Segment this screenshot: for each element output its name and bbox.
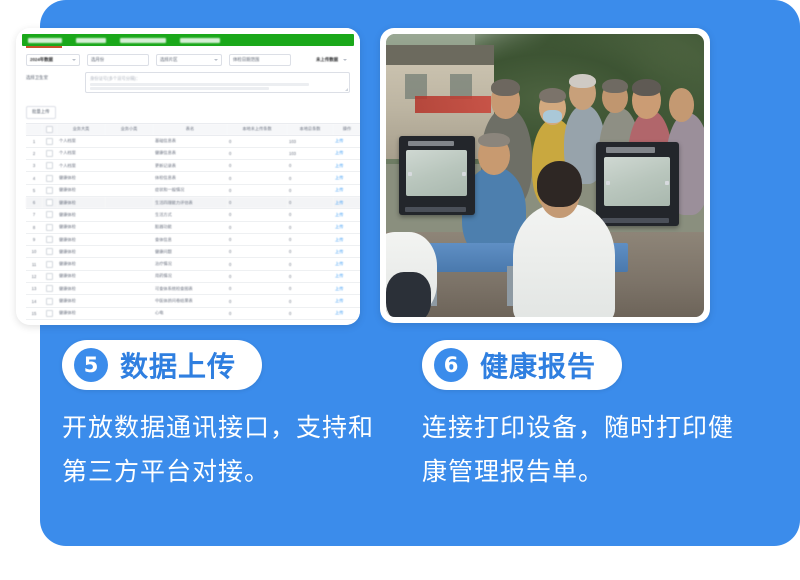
cell-index: 12 — [26, 270, 42, 282]
upload-link[interactable]: 上传 — [335, 187, 343, 192]
cell-total-count: 0 — [287, 295, 333, 307]
cell-operation[interactable]: 上传 — [333, 258, 360, 270]
photo-panel — [380, 28, 710, 323]
kiosk-right-label-bar — [606, 147, 656, 153]
filter-status-select[interactable]: 未上传数据 — [298, 54, 350, 66]
cell-total-count: 0 — [287, 258, 333, 270]
cell-category: 个人档案 — [57, 160, 105, 172]
cell-pending-count: 0 — [227, 270, 287, 282]
th-subcategory: 业务小类 — [105, 123, 153, 135]
kiosk-left-label-bar — [408, 141, 454, 147]
cell-table-name: 更新记录表 — [153, 160, 227, 172]
upload-link[interactable]: 上传 — [335, 150, 343, 155]
textarea-ghost-line-2 — [90, 87, 269, 90]
upload-link[interactable]: 上传 — [335, 175, 343, 180]
cell-pending-count: 0 — [227, 307, 287, 319]
kiosk-left-footer — [405, 207, 466, 212]
cell-subcategory — [105, 221, 153, 233]
photo-hair-5 — [632, 79, 661, 96]
feature-number-badge-6: 6 — [434, 348, 468, 382]
cell-table-name: 生活方式 — [153, 209, 227, 221]
upload-data-table: 业务大类 业务小类 表名 本地未上传条数 本地总条数 操作 通讯状态 1个人档案… — [26, 123, 360, 320]
textarea-ghost-line-1 — [90, 83, 309, 86]
cell-row-checkbox[interactable] — [42, 184, 57, 196]
checkbox-icon[interactable] — [46, 187, 53, 194]
cell-row-checkbox[interactable] — [42, 258, 57, 270]
table-row[interactable]: 3个人档案更新记录表00上传 — [26, 160, 360, 172]
cell-table-name: 健康信息表 — [153, 147, 227, 159]
checkbox-icon[interactable] — [46, 138, 53, 145]
upload-link[interactable]: 上传 — [335, 273, 343, 278]
cell-subcategory — [105, 147, 153, 159]
cell-pending-count: 0 — [227, 295, 287, 307]
chevron-down-icon — [214, 59, 218, 61]
cell-row-checkbox[interactable] — [42, 270, 57, 282]
feature-heading-6: 6 健康报告 — [422, 340, 622, 390]
th-pending-count: 本地未上传条数 — [227, 123, 287, 135]
cell-subcategory — [105, 283, 153, 295]
cell-table-name: 心电 — [153, 307, 227, 319]
cell-subcategory — [105, 307, 153, 319]
cell-category: 健康体检 — [57, 246, 105, 258]
filter-toolbar: 2024年数据 选月份 选择片区 体检日期范围 — [26, 54, 350, 66]
nav-item-3[interactable] — [120, 38, 166, 43]
poster-page: 2024年数据 选月份 选择片区 体检日期范围 — [0, 0, 800, 580]
cell-category: 健康体检 — [57, 295, 105, 307]
cell-subcategory — [105, 135, 153, 147]
app-top-navigation[interactable] — [22, 34, 354, 46]
cell-category: 健康体检 — [57, 209, 105, 221]
table-row[interactable]: 5健康体检症状和一般情况00上传 — [26, 184, 360, 196]
cell-category: 个人档案 — [57, 147, 105, 159]
photo-hair-4 — [602, 79, 627, 93]
photo-building-roof — [386, 45, 494, 65]
cell-index: 13 — [26, 283, 42, 295]
table-row[interactable]: 9健康体检查体信息00上传 — [26, 233, 360, 245]
filter-year-value: 2024年数据 — [30, 57, 53, 63]
nav-item-4[interactable] — [180, 38, 220, 43]
cell-total-count: 0 — [287, 246, 333, 258]
photo-patient-hair — [478, 133, 510, 147]
cell-operation[interactable]: 上传 — [333, 135, 360, 147]
kiosk-left-knob-1 — [408, 172, 412, 176]
app-content: 2024年数据 选月份 选择片区 体检日期范围 — [16, 46, 360, 320]
health-kiosk-right — [596, 142, 679, 227]
cell-row-checkbox[interactable] — [42, 135, 57, 147]
checkbox-icon[interactable] — [46, 126, 53, 133]
upload-link[interactable]: 上传 — [335, 310, 343, 315]
cell-subcategory — [105, 246, 153, 258]
upload-link[interactable]: 上传 — [335, 298, 343, 303]
cell-total-count: 0 — [287, 172, 333, 184]
cell-row-checkbox[interactable] — [42, 233, 57, 245]
cell-pending-count: 0 — [227, 184, 287, 196]
feature-title-5: 数据上传 — [120, 345, 236, 385]
cell-category: 个人档案 — [57, 135, 105, 147]
cell-total-count: 0 — [287, 184, 333, 196]
table-header: 业务大类 业务小类 表名 本地未上传条数 本地总条数 操作 通讯状态 — [26, 123, 360, 135]
cell-category: 健康体检 — [57, 283, 105, 295]
cell-row-checkbox[interactable] — [42, 147, 57, 159]
upload-link[interactable]: 上传 — [335, 212, 343, 217]
checkbox-icon[interactable] — [46, 175, 53, 182]
cell-operation[interactable]: 上传 — [333, 283, 360, 295]
upload-link[interactable]: 上传 — [335, 286, 343, 291]
cell-index: 11 — [26, 258, 42, 270]
feature-heading-5: 5 数据上传 — [62, 340, 262, 390]
table-row[interactable]: 8健康体检脏器功能00上传 — [26, 221, 360, 233]
app-window: 2024年数据 选月份 选择片区 体检日期范围 — [16, 28, 360, 325]
cell-table-name: 健康问题 — [153, 246, 227, 258]
cell-total-count: 103 — [287, 135, 333, 147]
table-row[interactable]: 2个人档案健康信息表0103上传 — [26, 147, 360, 159]
cell-operation[interactable]: 上传 — [333, 172, 360, 184]
cell-pending-count: 0 — [227, 160, 287, 172]
checkbox-icon[interactable] — [46, 236, 53, 243]
cell-total-count: 0 — [287, 196, 333, 208]
kiosk-right-knob-2 — [665, 181, 669, 185]
table-row[interactable]: 4健康体检体检信息表00上传 — [26, 172, 360, 184]
photo-window-2 — [450, 74, 472, 99]
cell-table-name: 可查体系统检查图表 — [153, 283, 227, 295]
cell-pending-count: 0 — [227, 258, 287, 270]
cell-index: 2 — [26, 147, 42, 159]
cell-table-name: 生活四理能力评估表 — [153, 196, 227, 208]
checkbox-icon[interactable] — [46, 150, 53, 157]
cell-total-count: 0 — [287, 209, 333, 221]
cell-operation[interactable]: 上传 — [333, 209, 360, 221]
filter-month-input[interactable]: 选月份 — [87, 54, 149, 66]
checkbox-icon[interactable] — [46, 285, 53, 292]
checkbox-icon[interactable] — [46, 248, 53, 255]
nav-item-1[interactable] — [28, 38, 62, 43]
health-kiosk-left — [399, 136, 475, 215]
cell-operation[interactable]: 上传 — [333, 307, 360, 319]
cell-index: 6 — [26, 196, 42, 208]
table-row[interactable]: 1个人档案基础信息表0103上传 — [26, 135, 360, 147]
cell-table-name: 治疗情况 — [153, 258, 227, 270]
checkbox-icon[interactable] — [46, 273, 53, 280]
feature-number-badge-5: 5 — [74, 348, 108, 382]
upload-link[interactable]: 上传 — [335, 163, 343, 168]
cell-pending-count: 0 — [227, 147, 287, 159]
id-number-placeholder: 身份证号(多个逗号分隔)： — [90, 76, 345, 82]
cell-pending-count: 0 — [227, 283, 287, 295]
nav-item-2[interactable] — [76, 38, 106, 43]
chevron-down-icon — [343, 59, 347, 61]
cell-category: 健康体检 — [57, 172, 105, 184]
nav-active-indicator — [26, 46, 62, 48]
cell-index: 9 — [26, 233, 42, 245]
photo-window-1 — [405, 74, 427, 99]
table-row[interactable]: 15健康体检心电00上传 — [26, 307, 360, 319]
cell-pending-count: 0 — [227, 196, 287, 208]
cell-table-name: 用药情况 — [153, 270, 227, 282]
filter-date-range-value: 体检日期范围 — [233, 57, 259, 63]
checkbox-icon[interactable] — [46, 199, 53, 206]
table-header-row: 业务大类 业务小类 表名 本地未上传条数 本地总条数 操作 通讯状态 — [26, 123, 360, 135]
checkbox-icon[interactable] — [46, 211, 53, 218]
photo-hair-3 — [569, 74, 596, 88]
cell-pending-count: 0 — [227, 246, 287, 258]
photo-staff-hair — [537, 161, 582, 206]
table-row[interactable]: 13健康体检可查体系统检查图表00上传 — [26, 283, 360, 295]
cell-subcategory — [105, 270, 153, 282]
cell-index: 14 — [26, 295, 42, 307]
filter-district-value: 选择片区 — [160, 57, 178, 63]
kiosk-left-knob-2 — [462, 172, 466, 176]
feature-title-6: 健康报告 — [480, 345, 596, 385]
table-row[interactable]: 14健康体检中医体质问卷结果表00上传 — [26, 295, 360, 307]
cell-category: 健康体检 — [57, 233, 105, 245]
cell-row-checkbox[interactable] — [42, 160, 57, 172]
cell-category: 健康体检 — [57, 270, 105, 282]
cell-category: 健康体检 — [57, 258, 105, 270]
cell-index: 3 — [26, 160, 42, 172]
cell-pending-count: 0 — [227, 172, 287, 184]
checkbox-icon[interactable] — [46, 298, 53, 305]
filter-status-value: 未上传数据 — [316, 57, 338, 63]
cell-category: 健康体检 — [57, 184, 105, 196]
cell-category: 健康体检 — [57, 307, 105, 319]
cell-subcategory — [105, 196, 153, 208]
upload-link[interactable]: 上传 — [335, 224, 343, 229]
checkbox-icon[interactable] — [46, 162, 53, 169]
filter-date-range-input[interactable]: 体检日期范围 — [229, 54, 291, 66]
upload-link[interactable]: 上传 — [335, 200, 343, 205]
cell-table-name: 脏器功能 — [153, 221, 227, 233]
checkbox-icon[interactable] — [46, 224, 53, 231]
photo-hair-2 — [539, 88, 566, 104]
cell-total-count: 0 — [287, 221, 333, 233]
kiosk-left-screen — [406, 150, 467, 196]
cell-total-count: 0 — [287, 270, 333, 282]
cell-operation[interactable]: 上传 — [333, 196, 360, 208]
cell-table-name: 查体信息 — [153, 233, 227, 245]
cell-table-name: 基础信息表 — [153, 135, 227, 147]
id-number-textarea[interactable]: 身份证号(多个逗号分隔)： — [85, 72, 350, 93]
cell-total-count: 103 — [287, 147, 333, 159]
cell-subcategory — [105, 160, 153, 172]
table-row[interactable]: 11健康体检治疗情况00上传 — [26, 258, 360, 270]
cell-table-name: 体检信息表 — [153, 172, 227, 184]
resize-handle-icon[interactable] — [345, 88, 348, 91]
photo-operator-body — [386, 272, 431, 317]
clinic-select-label: 选择卫生室 — [26, 72, 78, 84]
upload-link[interactable]: 上传 — [335, 138, 343, 143]
cell-operation[interactable]: 上传 — [333, 221, 360, 233]
cell-row-checkbox[interactable] — [42, 172, 57, 184]
cell-subcategory — [105, 172, 153, 184]
cell-index: 8 — [26, 221, 42, 233]
th-table-name: 表名 — [153, 123, 227, 135]
cell-subcategory — [105, 295, 153, 307]
table-row[interactable]: 12健康体检用药情况00上传 — [26, 270, 360, 282]
cell-index: 7 — [26, 209, 42, 221]
app-screenshot-panel: 2024年数据 选月份 选择片区 体检日期范围 — [16, 28, 360, 325]
cell-operation[interactable]: 上传 — [333, 295, 360, 307]
cell-row-checkbox[interactable] — [42, 209, 57, 221]
cell-pending-count: 0 — [227, 221, 287, 233]
clinic-select-row: 选择卫生室 身份证号(多个逗号分隔)： — [26, 72, 350, 93]
feature-description-5: 开放数据通讯接口，支持和第三方平台对接。 — [62, 406, 392, 494]
kiosk-right-screen — [604, 157, 670, 206]
filter-district-select[interactable]: 选择片区 — [156, 54, 222, 66]
cell-operation[interactable]: 上传 — [333, 160, 360, 172]
cell-operation[interactable]: 上传 — [333, 246, 360, 258]
cell-row-checkbox[interactable] — [42, 307, 57, 319]
th-select-all[interactable] — [42, 123, 57, 135]
cell-row-checkbox[interactable] — [42, 283, 57, 295]
cell-total-count: 0 — [287, 307, 333, 319]
table-body: 1个人档案基础信息表0103上传2个人档案健康信息表0103上传3个人档案更新记… — [26, 135, 360, 319]
cell-pending-count: 0 — [227, 233, 287, 245]
cell-table-name: 症状和一般情况 — [153, 184, 227, 196]
checkbox-icon[interactable] — [46, 261, 53, 268]
cell-subcategory — [105, 233, 153, 245]
th-operation: 操作 — [333, 123, 360, 135]
filter-year-select[interactable]: 2024年数据 — [26, 54, 80, 66]
table-row[interactable]: 10健康体检健康问题00上传 — [26, 246, 360, 258]
cell-subcategory — [105, 209, 153, 221]
cell-total-count: 0 — [287, 160, 333, 172]
feature-heading-row: 5 数据上传 6 健康报告 — [0, 340, 800, 398]
table-row[interactable]: 7健康体检生活方式00上传 — [26, 209, 360, 221]
cell-category: 健康体检 — [57, 221, 105, 233]
photo-head-6 — [669, 88, 694, 122]
cell-index: 1 — [26, 135, 42, 147]
photo-hair-1 — [491, 79, 520, 96]
upload-link[interactable]: 上传 — [335, 261, 343, 266]
th-total-count: 本地总条数 — [287, 123, 333, 135]
cell-total-count: 0 — [287, 283, 333, 295]
media-panel-row: 2024年数据 选月份 选择片区 体检日期范围 — [16, 28, 744, 328]
cell-pending-count: 0 — [227, 209, 287, 221]
photo-face-mask — [543, 110, 562, 123]
filter-month-value: 选月份 — [91, 57, 104, 63]
cell-index: 5 — [26, 184, 42, 196]
batch-upload-button[interactable]: 批量上传 — [26, 106, 56, 119]
feature-description-6: 连接打印设备，随时打印健康管理报告单。 — [422, 406, 752, 494]
cell-table-name: 中医体质问卷结果表 — [153, 295, 227, 307]
cell-row-checkbox[interactable] — [42, 196, 57, 208]
photo-staff-white-coat — [513, 204, 615, 317]
cell-operation[interactable]: 上传 — [333, 147, 360, 159]
cell-index: 15 — [26, 307, 42, 319]
chevron-down-icon — [72, 59, 76, 61]
cell-row-checkbox[interactable] — [42, 246, 57, 258]
cell-index: 10 — [26, 246, 42, 258]
cell-row-checkbox[interactable] — [42, 221, 57, 233]
th-category: 业务大类 — [57, 123, 105, 135]
cell-subcategory — [105, 258, 153, 270]
checkbox-icon[interactable] — [46, 310, 53, 317]
th-index — [26, 123, 42, 135]
cell-index: 4 — [26, 172, 42, 184]
kiosk-right-knob-1 — [606, 181, 610, 185]
cell-row-checkbox[interactable] — [42, 295, 57, 307]
cell-pending-count: 0 — [227, 135, 287, 147]
kiosk-right-footer — [602, 218, 668, 223]
cell-operation[interactable]: 上传 — [333, 270, 360, 282]
cell-subcategory — [105, 184, 153, 196]
upload-link[interactable]: 上传 — [335, 237, 343, 242]
cell-total-count: 0 — [287, 233, 333, 245]
cell-operation[interactable]: 上传 — [333, 233, 360, 245]
cell-category: 健康体检 — [57, 196, 105, 208]
photo-red-banner — [415, 96, 491, 113]
cell-operation[interactable]: 上传 — [333, 184, 360, 196]
upload-link[interactable]: 上传 — [335, 249, 343, 254]
health-screening-photo — [386, 34, 704, 317]
table-row[interactable]: 6健康体检生活四理能力评估表00上传 — [26, 196, 360, 208]
